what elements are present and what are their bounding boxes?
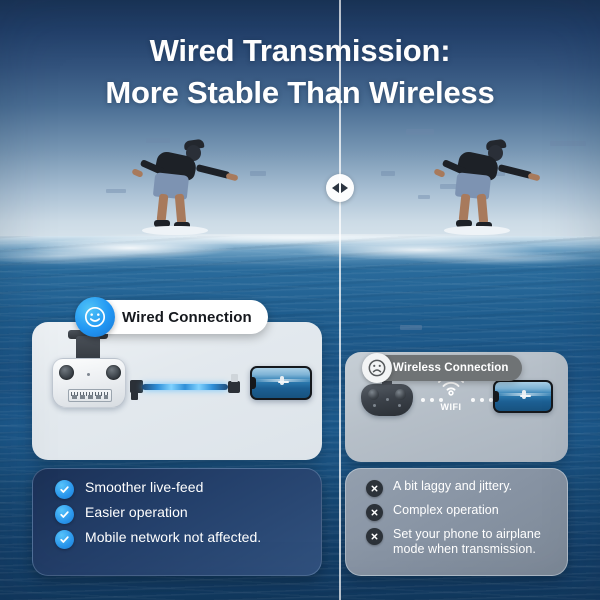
comparison-slider-handle[interactable] (326, 174, 354, 202)
promo-graphic: Wired Transmission: More Stable Than Wir… (0, 0, 600, 600)
list-item: A bit laggy and jittery. (346, 479, 567, 497)
phone-notch (495, 391, 499, 403)
list-item-label: Easier operation (85, 504, 188, 521)
surfer-right (420, 138, 580, 248)
sky-artifact-bar (400, 325, 422, 330)
wifi-label: WIFI (429, 402, 473, 412)
x-circle-icon (366, 480, 383, 497)
wired-connection-badge[interactable]: Wired Connection (88, 300, 268, 334)
wireless-connection-badge[interactable]: Wireless Connection (366, 355, 522, 381)
cable-glow-line (142, 384, 228, 390)
sky-artifact-bar (381, 171, 395, 176)
wireless-phone-screen (495, 382, 551, 411)
phone-surfboard (520, 395, 531, 397)
check-circle-icon (55, 505, 74, 524)
phone-notch (252, 377, 256, 389)
list-item-label: A bit laggy and jittery. (393, 479, 512, 494)
list-item: Smoother live-feed (33, 479, 321, 499)
wireless-drawbacks-list: A bit laggy and jittery.Complex operatio… (345, 468, 568, 576)
page-title: Wired Transmission: More Stable Than Wir… (0, 30, 600, 114)
wireless-badge-label: Wireless Connection (393, 362, 509, 374)
check-circle-icon (55, 480, 74, 499)
check-circle-icon (55, 530, 74, 549)
sad-face-icon (362, 353, 392, 383)
list-item-label: Smoother live-feed (85, 479, 203, 496)
gamepad-controller (361, 384, 413, 416)
title-line-2: More Stable Than Wireless (0, 72, 600, 114)
left-right-arrows-icon (331, 182, 349, 194)
x-circle-icon (366, 528, 383, 545)
list-item: Complex operation (346, 503, 567, 521)
x-circle-icon (366, 504, 383, 521)
list-item: Mobile network not affected. (33, 529, 321, 549)
signal-dots-right (471, 398, 493, 402)
wired-phone-screen (252, 368, 310, 398)
happy-face-icon (75, 297, 115, 337)
wired-phone (250, 366, 312, 400)
list-item-label: Complex operation (393, 503, 499, 518)
title-line-1: Wired Transmission: (0, 30, 600, 72)
comparison-divider-line (339, 0, 341, 600)
list-item-label: Set your phone to airplane mode when tra… (393, 527, 557, 558)
remote-screen (68, 389, 112, 402)
phone-surfboard (278, 381, 289, 383)
usb-cable (130, 376, 240, 398)
list-item: Easier operation (33, 504, 321, 524)
wired-device-panel (32, 322, 322, 460)
list-item-label: Mobile network not affected. (85, 529, 261, 546)
wired-benefits-list: Smoother live-feedEasier operationMobile… (32, 468, 322, 576)
list-item: Set your phone to airplane mode when tra… (346, 527, 567, 558)
surfer-left (118, 138, 278, 248)
remote-controller (52, 358, 126, 408)
cable-plug-right (228, 381, 240, 393)
wired-badge-label: Wired Connection (122, 309, 252, 326)
sky-artifact-bar (406, 129, 434, 135)
wireless-phone (493, 380, 553, 413)
